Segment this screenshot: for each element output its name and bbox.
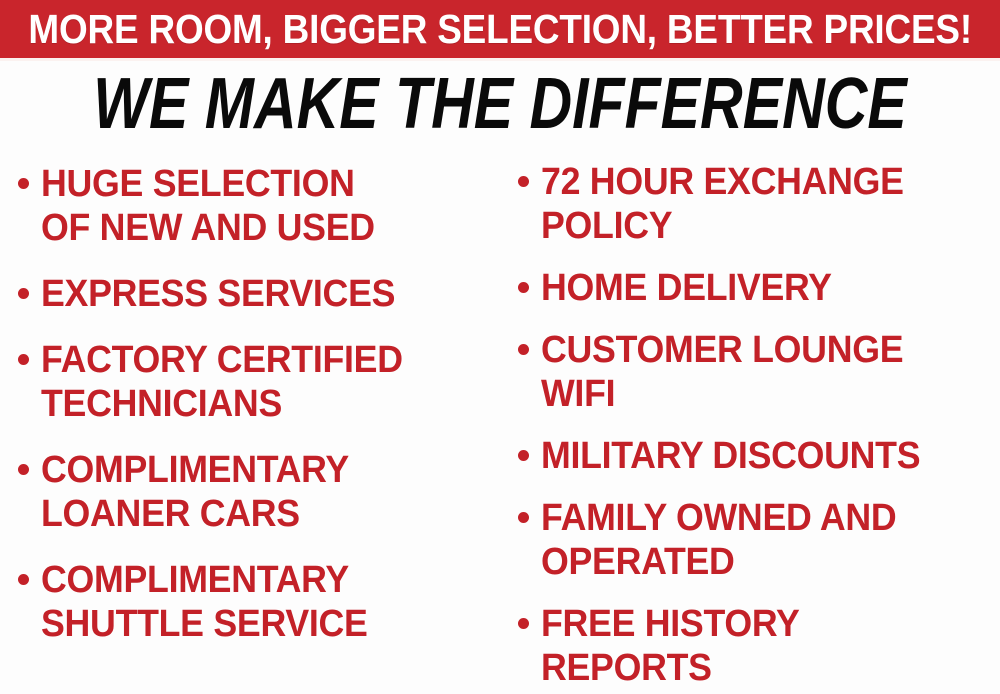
list-item: COMPLIMENTARY LOANER CARS xyxy=(18,448,498,536)
list-item-label: FAMILY OWNED AND OPERATED xyxy=(541,496,896,584)
list-item-label: HUGE SELECTION OF NEW AND USED xyxy=(41,162,375,250)
benefits-column-left: HUGE SELECTION OF NEW AND USED EXPRESS S… xyxy=(18,152,498,694)
banner-divider xyxy=(0,58,1000,61)
banner-headline: MORE ROOM, BIGGER SELECTION, BETTER PRIC… xyxy=(28,9,972,50)
list-item: MILITARY DISCOUNTS xyxy=(518,434,1000,478)
list-item-label: COMPLIMENTARY SHUTTLE SERVICE xyxy=(41,558,368,646)
list-item-label: COMPLIMENTARY LOANER CARS xyxy=(41,448,349,536)
main-headline-area: WE MAKE THE DIFFERENCE xyxy=(0,68,1000,140)
list-item-label: EXPRESS SERVICES xyxy=(41,272,395,316)
list-item-label: FACTORY CERTIFIED TECHNICIANS xyxy=(41,338,403,426)
list-item: CUSTOMER LOUNGE WIFI xyxy=(518,328,1000,416)
list-item: FAMILY OWNED AND OPERATED xyxy=(518,496,1000,584)
benefits-column-right: 72 HOUR EXCHANGE POLICY HOME DELIVERY CU… xyxy=(518,152,1000,694)
list-item: HOME DELIVERY xyxy=(518,266,1000,310)
list-item: FREE HISTORY REPORTS xyxy=(518,602,1000,690)
bullet-dot-icon xyxy=(518,618,529,629)
list-item-label: FREE HISTORY REPORTS xyxy=(541,602,800,690)
list-item: EXPRESS SERVICES xyxy=(18,272,498,316)
bullet-dot-icon xyxy=(18,288,29,299)
list-item-label: 72 HOUR EXCHANGE POLICY xyxy=(541,160,904,248)
list-item: COMPLIMENTARY SHUTTLE SERVICE xyxy=(18,558,498,646)
list-item: 72 HOUR EXCHANGE POLICY xyxy=(518,160,1000,248)
bullet-dot-icon xyxy=(518,450,529,461)
bullet-dot-icon xyxy=(518,344,529,355)
list-item-label: HOME DELIVERY xyxy=(541,266,832,310)
bullet-dot-icon xyxy=(18,178,29,189)
bullet-dot-icon xyxy=(518,282,529,293)
list-item-label: CUSTOMER LOUNGE WIFI xyxy=(541,328,903,416)
top-banner: MORE ROOM, BIGGER SELECTION, BETTER PRIC… xyxy=(0,0,1000,58)
bullet-dot-icon xyxy=(518,512,529,523)
benefits-columns: HUGE SELECTION OF NEW AND USED EXPRESS S… xyxy=(0,152,1000,694)
bullet-dot-icon xyxy=(18,354,29,365)
bullet-dot-icon xyxy=(518,176,529,187)
list-item-label: MILITARY DISCOUNTS xyxy=(541,434,920,478)
list-item: FACTORY CERTIFIED TECHNICIANS xyxy=(18,338,498,426)
bullet-dot-icon xyxy=(18,464,29,475)
page-title: WE MAKE THE DIFFERENCE xyxy=(93,68,906,140)
list-item: HUGE SELECTION OF NEW AND USED xyxy=(18,162,498,250)
promo-poster: MORE ROOM, BIGGER SELECTION, BETTER PRIC… xyxy=(0,0,1000,694)
bullet-dot-icon xyxy=(18,574,29,585)
